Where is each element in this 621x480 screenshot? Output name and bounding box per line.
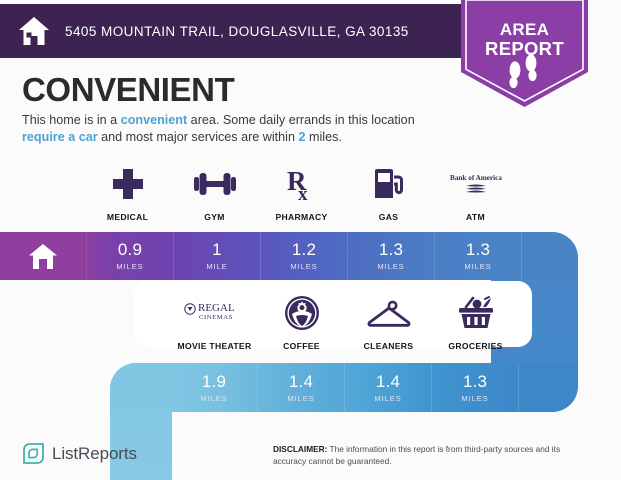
icon-label: CLEANERS [364,341,414,351]
band-cell-medical: 0.9 MILES [87,232,174,280]
listreports-logo-icon [22,442,45,465]
icon-cell-gym: GYM [171,163,258,222]
icon-label: COFFEE [283,341,320,351]
band-value: 1.3 [463,373,487,391]
starbucks-logo-icon [284,292,320,334]
icon-cell-groceries: GROCERIES [432,292,519,351]
icon-cell-movie-theater: REGAL CINEMAS MOVIE THEATER [171,292,258,351]
icon-label: GYM [204,212,224,222]
band-cell-gas: 1.3 MILES [348,232,435,280]
disclaimer: DISCLAIMER: The information in this repo… [273,444,593,467]
band-value: 1.4 [376,373,400,391]
home-icon [18,16,50,46]
icon-cell-medical: MEDICAL [84,163,171,222]
band-unit: MILES [200,394,227,403]
dumbbell-icon [194,163,236,205]
clothes-hanger-icon [366,292,412,334]
icon-label: PHARMACY [275,212,327,222]
band-cell-groceries: 1.3 MILES [432,363,519,412]
icon-label: ATM [466,212,485,222]
band-value: 1.4 [289,373,313,391]
area-report-page: 5405 MOUNTAIN TRAIL, DOUGLASVILLE, GA 30… [0,0,621,480]
page-description: This home is in a convenient area. Some … [22,112,452,146]
rx-prescription-icon: R x [287,163,317,205]
disclaimer-label: DISCLAIMER: [273,444,327,454]
band-home-cell [0,232,87,280]
band-cell-cleaners: 1.4 MILES [345,363,432,412]
svg-text:Bank of America: Bank of America [450,174,502,182]
band-cell-movie-theater: 1.9 MILES [171,363,258,412]
band-cell-pharmacy: 1.2 MILES [261,232,348,280]
icon-row-primary: MEDICAL GYM R x PHARMACY [84,163,519,222]
band-cell-coffee: 1.4 MILES [258,363,345,412]
band-unit: MILES [374,394,401,403]
svg-text:x: x [298,184,308,202]
band-unit: MILES [287,394,314,403]
band-unit: MILES [461,394,488,403]
band-cell-gym: 1 MILE [174,232,261,280]
band-unit: MILES [116,262,143,271]
badge-text: AREA REPORT [461,20,588,58]
distance-band-secondary: 1.9 MILES 1.4 MILES 1.4 MILES 1.3 MILES [110,363,578,412]
desc-highlight-require-a-car: require a car [22,130,98,144]
band-cell-atm: 1.3 MILES [435,232,522,280]
icon-cell-atm: Bank of America ATM [432,163,519,222]
home-icon [28,243,58,270]
band-value: 1.3 [379,241,403,259]
header-bar: 5405 MOUNTAIN TRAIL, DOUGLASVILLE, GA 30… [0,4,473,58]
desc-highlight-convenient: convenient [121,113,187,127]
band-unit: MILES [290,262,317,271]
listreports-logo: ListReports [22,442,137,465]
band-unit: MILES [464,262,491,271]
header-address: 5405 MOUNTAIN TRAIL, DOUGLASVILLE, GA 30… [65,24,409,39]
band-value: 0.9 [118,241,142,259]
regal-cinemas-logo-icon: REGAL CINEMAS [182,292,248,334]
gas-pump-icon [373,163,405,205]
desc-part-2: area. Some daily errands in this locatio… [187,113,415,127]
band-value: 1.3 [466,241,490,259]
icon-label: GROCERIES [448,341,502,351]
band-unit: MILES [377,262,404,271]
area-report-badge: AREA REPORT [461,0,588,108]
icon-cell-pharmacy: R x PHARMACY [258,163,345,222]
svg-text:REGAL: REGAL [198,302,235,314]
icon-cell-coffee: COFFEE [258,292,345,351]
desc-highlight-distance: 2 [298,130,305,144]
icon-label: MEDICAL [107,212,148,222]
icon-label: GAS [379,212,399,222]
desc-part-4: miles. [306,130,342,144]
icon-label: MOVIE THEATER [178,341,252,351]
badge-line-1: AREA [461,20,588,39]
svg-text:CINEMAS: CINEMAS [199,314,233,321]
icon-row-secondary: REGAL CINEMAS MOVIE THEATER COF [171,292,519,351]
icon-cell-gas: GAS [345,163,432,222]
grocery-basket-icon [456,292,496,334]
bank-of-america-logo-icon: Bank of America [446,163,506,205]
medical-cross-icon [112,163,144,205]
desc-part-3: and most major services are within [98,130,299,144]
band-value: 1.2 [292,241,316,259]
page-title: CONVENIENT [22,71,234,109]
band-unit: MILE [206,262,227,271]
distance-band-primary: 0.9 MILES 1 MILE 1.2 MILES 1.3 MILES 1.3… [0,232,578,280]
listreports-logo-text: ListReports [52,444,137,464]
band-value: 1.9 [202,373,226,391]
badge-line-2: REPORT [461,39,588,58]
desc-part-1: This home is in a [22,113,121,127]
icon-cell-cleaners: CLEANERS [345,292,432,351]
band-value: 1 [212,241,222,259]
